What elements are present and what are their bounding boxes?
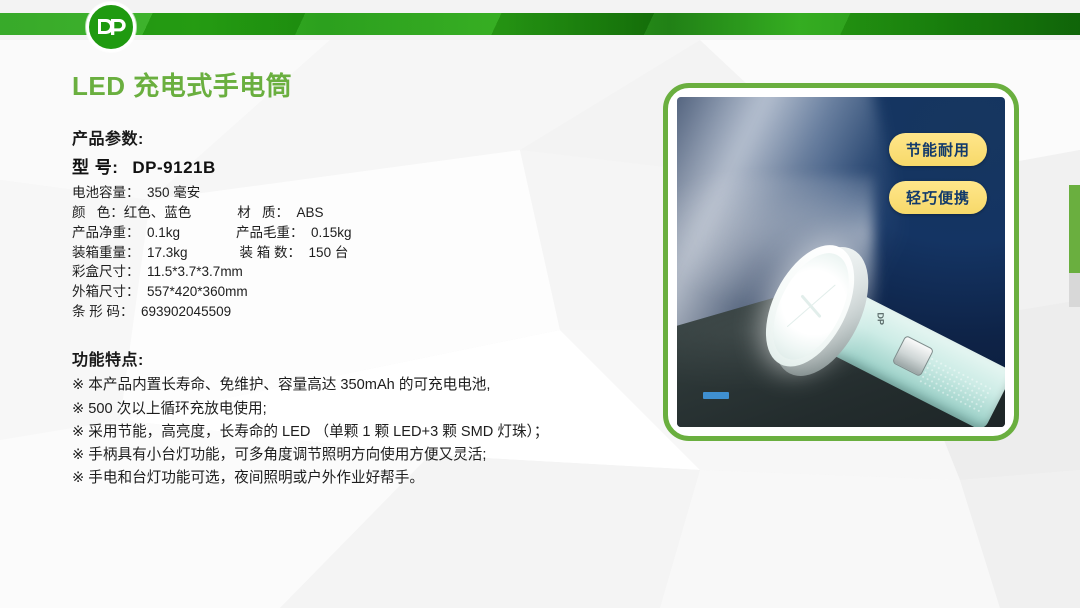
- badge-portable: 轻巧便携: [889, 181, 987, 214]
- model-value: DP-9121B: [132, 158, 215, 177]
- spec-right: 装 箱 数： 150 台: [240, 243, 349, 263]
- dp-logo-glyph: [96, 18, 126, 36]
- spec-left: 装箱重量： 17.3kg: [72, 245, 188, 260]
- spec-left: 条 形 码： 693902045509: [72, 304, 231, 319]
- content-column: LED 充电式手电筒 产品参数: 型 号:DP-9121B 电池容量： 350 …: [72, 72, 647, 490]
- spec-right: 材 质： ABS: [237, 203, 323, 223]
- features-list: ※ 本产品内置长寿命、免维护、容量高达 350mAh 的可充电电池, ※ 500…: [72, 374, 647, 489]
- spec-row: 产品净重： 0.1kg产品毛重： 0.15kg: [72, 223, 647, 243]
- feature-item: ※ 手柄具有小台灯功能，可多角度调节照明方向使用方便又灵活;: [72, 444, 647, 466]
- slide: LED 充电式手电筒 产品参数: 型 号:DP-9121B 电池容量： 350 …: [0, 0, 1080, 608]
- spec-row: 电池容量： 350 毫安: [72, 183, 647, 203]
- model-row: 型 号:DP-9121B: [72, 153, 647, 178]
- spec-left: 电池容量： 350 毫安: [72, 185, 200, 200]
- dp-logo: [86, 2, 136, 52]
- feature-item: ※ 500 次以上循环充放电使用;: [72, 398, 647, 420]
- spec-left: 产品净重： 0.1kg: [72, 225, 180, 240]
- spec-row: 条 形 码： 693902045509: [72, 302, 647, 322]
- badge-energy-saving: 节能耐用: [889, 133, 987, 166]
- right-edge-accent-bar: [1069, 185, 1080, 273]
- spec-row: 彩盒尺寸： 11.5*3.7*3.7mm: [72, 262, 647, 282]
- right-edge-grey-bar: [1069, 273, 1080, 307]
- header-band: [0, 13, 1080, 35]
- spec-row: 外箱尺寸： 557*420*360mm: [72, 282, 647, 302]
- feature-item: ※ 本产品内置长寿命、免维护、容量高达 350mAh 的可充电电池,: [72, 374, 647, 396]
- product-image-frame: DP 节能耐用 轻巧便携: [663, 83, 1019, 441]
- feature-badges: 节能耐用 轻巧便携: [889, 133, 987, 214]
- lens-reflector: [784, 271, 839, 342]
- spec-right: 产品毛重： 0.15kg: [236, 223, 352, 243]
- flashlight-dp-mark: DP: [875, 312, 885, 325]
- flashlight-grip-dots: [917, 356, 992, 415]
- spec-left: 外箱尺寸： 557*420*360mm: [72, 284, 248, 299]
- spec-row: 装箱重量： 17.3kg装 箱 数： 150 台: [72, 243, 647, 263]
- feature-item: ※ 手电和台灯功能可选，夜间照明或户外作业好帮手。: [72, 467, 647, 489]
- photo-color-marker: [703, 392, 729, 399]
- model-label: 型 号:: [72, 158, 118, 177]
- features-heading: 功能特点:: [72, 346, 647, 370]
- page-title: LED 充电式手电筒: [72, 72, 647, 101]
- spec-row: 颜 色：红色、蓝色材 质： ABS: [72, 203, 647, 223]
- specs-heading: 产品参数:: [72, 125, 647, 149]
- spec-list: 电池容量： 350 毫安 颜 色：红色、蓝色材 质： ABS 产品净重： 0.1…: [72, 183, 647, 323]
- spec-left: 颜 色：红色、蓝色: [72, 205, 191, 220]
- feature-item: ※ 采用节能，高亮度，长寿命的 LED （单颗 1 颗 LED+3 颗 SMD …: [72, 421, 647, 443]
- spec-left: 彩盒尺寸： 11.5*3.7*3.7mm: [72, 264, 243, 279]
- product-photo: DP 节能耐用 轻巧便携: [677, 97, 1005, 427]
